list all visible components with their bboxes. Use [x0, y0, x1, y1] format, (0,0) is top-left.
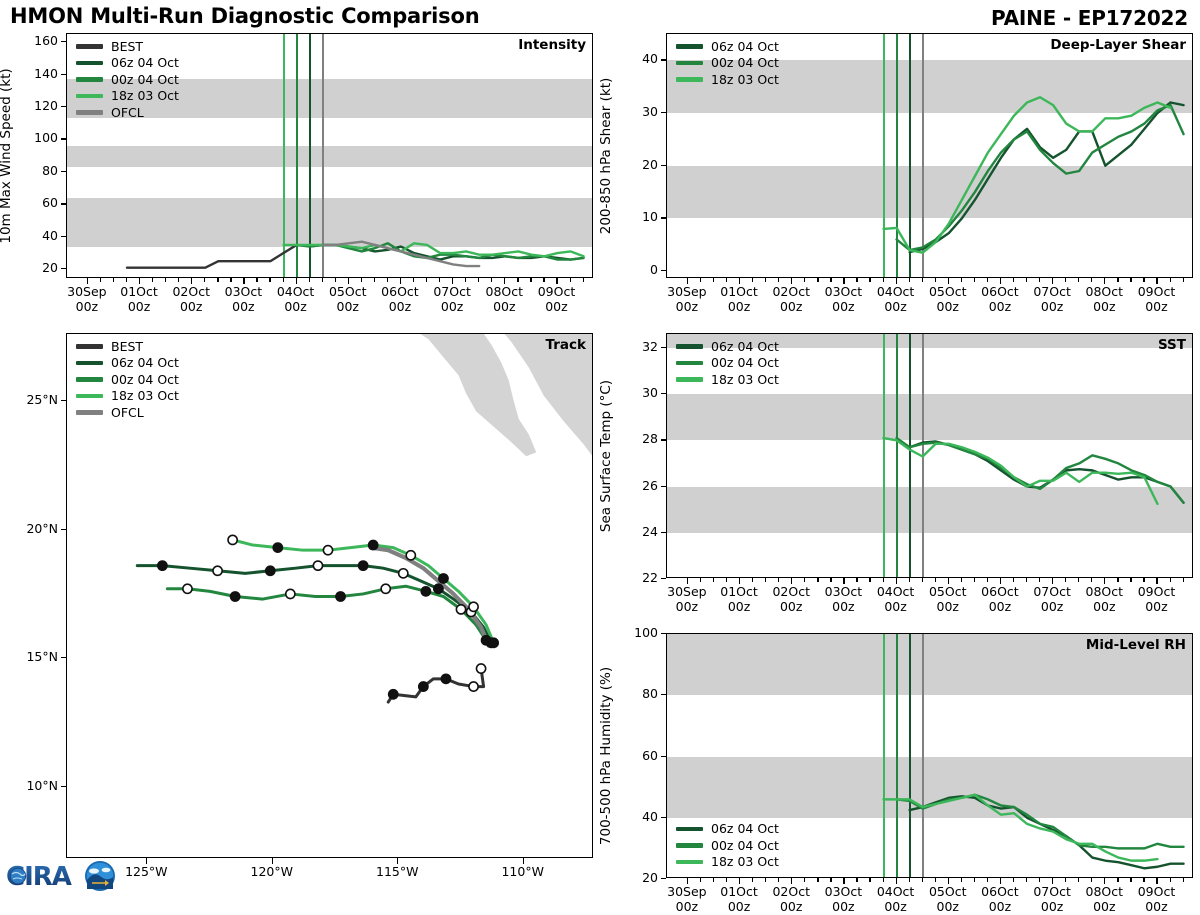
panel-title-rh: Mid-Level RH	[1086, 637, 1186, 653]
legend-item: 06z 04 Oct	[76, 355, 179, 372]
cira-logo: CIRA	[4, 854, 124, 898]
y-tick-mark	[661, 633, 666, 634]
legend-item: 18z 03 Oct	[676, 371, 779, 388]
legend-label: 18z 03 Oct	[111, 388, 179, 403]
x-tick-minor	[974, 878, 975, 882]
x-tick-mark	[1052, 878, 1053, 884]
legend-swatch	[676, 77, 703, 82]
legend-item: 00z 04 Oct	[76, 71, 179, 88]
y-tick-mark	[661, 756, 666, 757]
legend-label: OFCL	[111, 105, 144, 120]
legend-item: 00z 04 Oct	[676, 355, 779, 372]
legend-shear: 06z 04 Oct00z 04 Oct18z 03 Oct	[676, 38, 779, 88]
panel-title-shear: Deep-Layer Shear	[1050, 37, 1186, 53]
panel-rh: Mid-Level RH2040608010030Sep00z01Oct00z0…	[0, 0, 1200, 900]
series-line	[884, 795, 1158, 861]
panel-title-intensity: Intensity	[518, 37, 586, 53]
legend-swatch	[676, 843, 703, 848]
x-tick-minor	[817, 878, 818, 882]
x-tick-mark	[896, 878, 897, 884]
x-tick-mark	[1000, 878, 1001, 884]
legend-item: 06z 04 Oct	[676, 338, 779, 355]
legend-rh: 06z 04 Oct00z 04 Oct18z 03 Oct	[676, 821, 779, 871]
legend-item: 00z 04 Oct	[76, 371, 179, 388]
x-tick-minor	[869, 878, 870, 882]
panel-title-track: Track	[546, 337, 586, 353]
x-tick-mark	[687, 878, 688, 884]
x-tick-minor	[726, 878, 727, 882]
x-tick-minor	[765, 878, 766, 882]
legend-item: 18z 03 Oct	[76, 88, 179, 105]
panel-title-sst: SST	[1158, 337, 1186, 353]
legend-label: 18z 03 Oct	[711, 854, 779, 869]
legend-swatch	[676, 827, 703, 832]
x-tick-minor	[1039, 878, 1040, 882]
legend-item: 00z 04 Oct	[676, 55, 779, 72]
x-tick-minor	[961, 878, 962, 882]
legend-item: 06z 04 Oct	[76, 55, 179, 72]
y-axis-label-rh: 700-500 hPa Humidity (%)	[598, 666, 614, 844]
x-tick-minor	[883, 878, 884, 882]
x-tick-mark	[739, 878, 740, 884]
legend-swatch	[76, 77, 103, 82]
legend-swatch	[676, 44, 703, 49]
legend-swatch	[676, 377, 703, 382]
legend-label: 18z 03 Oct	[111, 88, 179, 103]
x-tick-minor	[1091, 878, 1092, 882]
legend-item: OFCL	[76, 104, 179, 121]
y-tick-label: 100	[622, 625, 658, 640]
legend-swatch	[76, 44, 103, 49]
legend-swatch	[76, 110, 103, 115]
x-tick-mark	[843, 878, 844, 884]
x-tick-minor	[1117, 878, 1118, 882]
y-tick-label: 80	[622, 686, 658, 701]
legend-item: 18z 03 Oct	[76, 388, 179, 405]
x-tick-minor	[909, 878, 910, 882]
legend-label: 06z 04 Oct	[111, 355, 179, 370]
legend-swatch	[76, 377, 103, 382]
y-tick-label: 20	[622, 870, 658, 885]
x-tick-minor	[987, 878, 988, 882]
legend-swatch	[676, 344, 703, 349]
x-tick-minor	[922, 878, 923, 882]
legend-swatch	[676, 361, 703, 366]
x-tick-mark	[1156, 878, 1157, 884]
x-tick-minor	[1130, 878, 1131, 882]
x-tick-minor	[935, 878, 936, 882]
legend-label: 18z 03 Oct	[711, 372, 779, 387]
x-tick-mark	[1104, 878, 1105, 884]
x-tick-minor	[713, 878, 714, 882]
legend-track: BEST06z 04 Oct00z 04 Oct18z 03 OctOFCL	[76, 338, 179, 421]
x-tick-minor	[752, 878, 753, 882]
y-tick-mark	[661, 694, 666, 695]
legend-swatch	[76, 361, 103, 366]
legend-swatch	[76, 94, 103, 99]
legend-swatch	[76, 410, 103, 415]
legend-item: 18z 03 Oct	[676, 71, 779, 88]
legend-label: 06z 04 Oct	[111, 55, 179, 70]
diagnostic-comparison-page: HMON Multi-Run Diagnostic Comparison PAI…	[0, 0, 1200, 900]
x-tick-mark	[791, 878, 792, 884]
legend-label: BEST	[111, 39, 143, 54]
legend-swatch	[676, 61, 703, 66]
legend-sst: 06z 04 Oct00z 04 Oct18z 03 Oct	[676, 338, 779, 388]
legend-item: 18z 03 Oct	[676, 854, 779, 871]
legend-swatch	[76, 344, 103, 349]
legend-label: 06z 04 Oct	[711, 821, 779, 836]
legend-swatch	[76, 394, 103, 399]
legend-intensity: BEST06z 04 Oct00z 04 Oct18z 03 OctOFCL	[76, 38, 179, 121]
y-tick-label: 40	[622, 809, 658, 824]
x-tick-minor	[1183, 878, 1184, 882]
legend-item: 00z 04 Oct	[676, 837, 779, 854]
x-tick-minor	[1065, 878, 1066, 882]
legend-label: BEST	[111, 339, 143, 354]
x-tick-mark	[948, 878, 949, 884]
x-tick-minor	[1026, 878, 1027, 882]
legend-label: 00z 04 Oct	[111, 372, 179, 387]
x-tick-minor	[778, 878, 779, 882]
x-tick-minor	[1078, 878, 1079, 882]
legend-label: 18z 03 Oct	[711, 72, 779, 87]
series-line	[910, 796, 1184, 868]
legend-label: 06z 04 Oct	[711, 339, 779, 354]
x-tick-minor	[804, 878, 805, 882]
x-tick-minor	[1013, 878, 1014, 882]
legend-swatch	[676, 860, 703, 865]
legend-item: 06z 04 Oct	[676, 38, 779, 55]
y-tick-mark	[661, 817, 666, 818]
y-tick-label: 60	[622, 748, 658, 763]
legend-item: BEST	[76, 38, 179, 55]
legend-label: 00z 04 Oct	[111, 72, 179, 87]
x-tick-minor	[700, 878, 701, 882]
legend-label: 06z 04 Oct	[711, 39, 779, 54]
legend-label: 00z 04 Oct	[711, 355, 779, 370]
x-tick-minor	[1170, 878, 1171, 882]
x-tick-minor	[830, 878, 831, 882]
legend-item: 06z 04 Oct	[676, 821, 779, 838]
legend-item: OFCL	[76, 404, 179, 421]
x-tick-minor	[856, 878, 857, 882]
legend-label: 00z 04 Oct	[711, 838, 779, 853]
legend-item: BEST	[76, 338, 179, 355]
y-tick-mark	[661, 878, 666, 879]
legend-label: OFCL	[111, 405, 144, 420]
legend-label: 00z 04 Oct	[711, 55, 779, 70]
legend-swatch	[76, 61, 103, 66]
x-tick-minor	[1143, 878, 1144, 882]
